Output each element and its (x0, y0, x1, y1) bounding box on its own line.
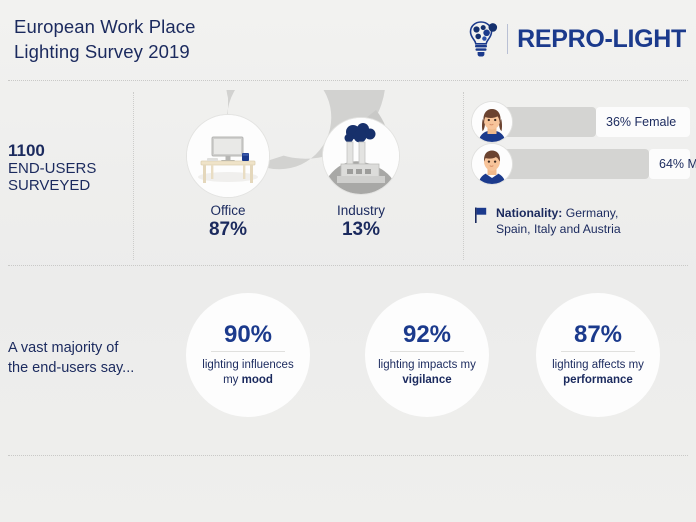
nationality-text: Nationality: Germany, Spain, Italy and A… (496, 205, 621, 237)
finding-circle-performance: 87% lighting affects my performance (536, 293, 660, 417)
finding-caption-keyword: performance (563, 374, 633, 386)
survey-count-label: END-USERS SURVEYED (8, 160, 126, 195)
repro-light-logo: REPRO-LIGHT (464, 20, 686, 58)
divider-header (8, 80, 688, 82)
finding-caption-mood: lighting influences my mood (192, 358, 304, 388)
sector-label-office: Office 87% (173, 203, 283, 241)
divider-footer (8, 455, 688, 457)
men-bar-fill (500, 149, 649, 179)
finding-caption-keyword: vigilance (402, 374, 451, 386)
female-percent-label: 36% Female (596, 115, 676, 129)
sector-name-industry: Industry (306, 203, 416, 219)
survey-count: 1100 (8, 142, 126, 160)
demographic-row-men: 64% Men (472, 144, 690, 184)
sector-percent-industry: 13% (306, 219, 416, 241)
survey-count-block: 1100 END-USERS SURVEYED (8, 142, 126, 195)
infographic-canvas: European Work Place Lighting Survey 2019… (0, 0, 696, 522)
male-avatar-icon (472, 144, 512, 184)
finding-rule (561, 351, 635, 352)
finding-percent-vigilance: 92% (403, 322, 451, 348)
office-desk-icon (187, 115, 269, 197)
female-bar-value-box: 36% Female (596, 107, 690, 137)
demographic-row-female: 36% Female (472, 102, 690, 142)
logo-wordmark: REPRO-LIGHT (517, 25, 686, 54)
sector-name-office: Office (173, 203, 283, 219)
divider-middle (8, 265, 688, 267)
finding-caption-keyword: mood (242, 374, 273, 386)
findings-intro: A vast majority of the end-users say... (8, 338, 173, 378)
finding-caption-text: lighting affects my (552, 359, 644, 371)
lightbulb-icon (464, 20, 498, 58)
finding-circle-mood: 90% lighting influences my mood (186, 293, 310, 417)
sector-percent-office: 87% (173, 219, 283, 241)
female-bar-fill (500, 107, 596, 137)
demographics-panel: 36% Female 64% Men (472, 100, 690, 260)
finding-caption-text: lighting impacts my (378, 359, 476, 371)
female-avatar-icon (472, 102, 512, 142)
divider-right-panel (463, 92, 465, 260)
finding-caption-performance: lighting affects my performance (542, 358, 654, 388)
finding-rule (390, 351, 464, 352)
divider-left-stat (133, 92, 135, 260)
finding-circle-vigilance: 92% lighting impacts my vigilance (365, 293, 489, 417)
men-bar-value-box: 64% Men (649, 149, 690, 179)
flag-icon (474, 207, 488, 223)
nationality-label: Nationality: (496, 206, 562, 220)
logo-divider (507, 24, 508, 54)
finding-percent-performance: 87% (574, 322, 622, 348)
page-title: European Work Place Lighting Survey 2019 (14, 14, 196, 64)
finding-caption-vigilance: lighting impacts my vigilance (371, 358, 483, 388)
sector-donut-chart: Office 87% Industry 13% (140, 90, 460, 260)
men-percent-label: 64% Men (649, 157, 696, 171)
factory-icon (323, 118, 399, 194)
sector-label-industry: Industry 13% (306, 203, 416, 241)
finding-percent-mood: 90% (224, 322, 272, 348)
finding-rule (211, 351, 285, 352)
nationality-block: Nationality: Germany, Spain, Italy and A… (474, 205, 621, 237)
